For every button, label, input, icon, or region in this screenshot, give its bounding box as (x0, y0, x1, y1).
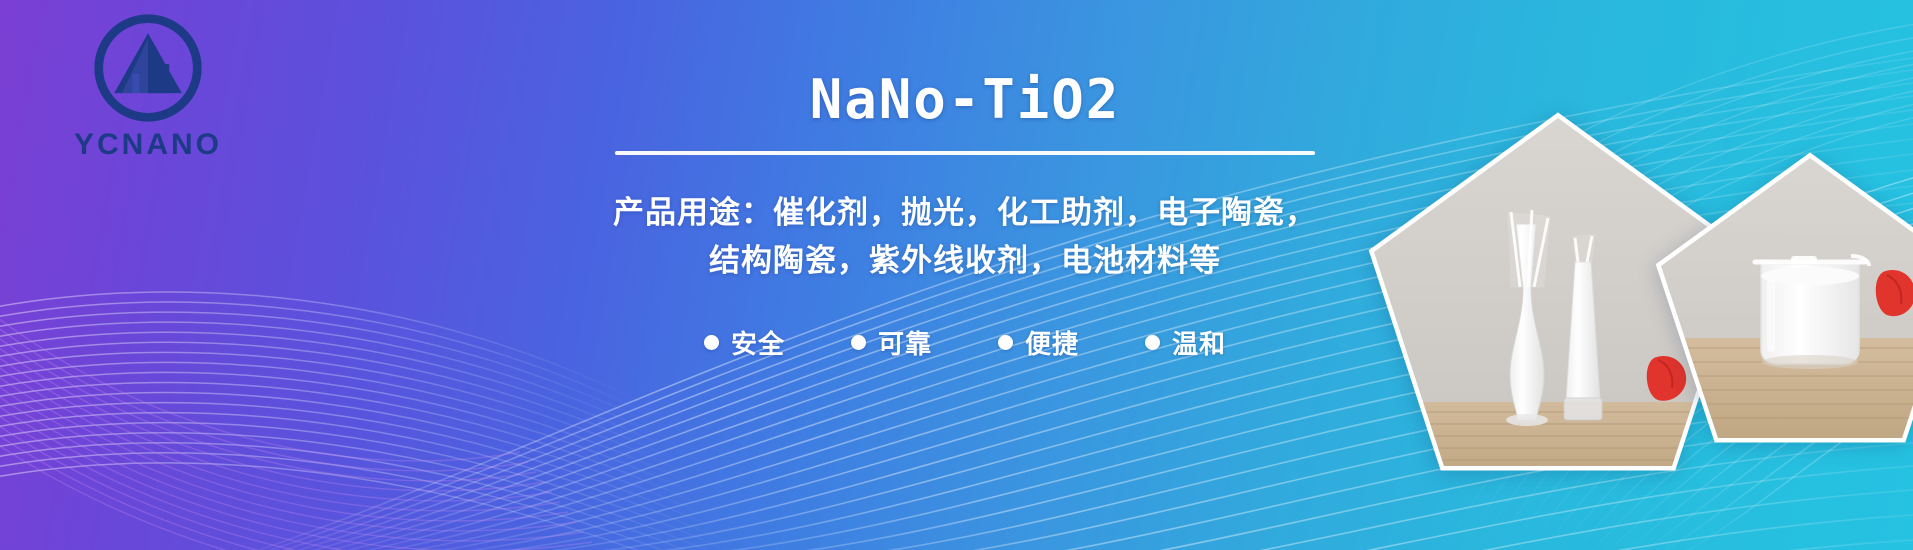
feature-label: 便捷 (1025, 324, 1079, 361)
hero-text-column: NaNo-TiO2 产品用途：催化剂，抛光，化工助剂，电子陶瓷， 结构陶瓷，紫外… (560, 70, 1370, 361)
bullet-dot-icon (851, 335, 866, 350)
brand-logo: YCNANO (48, 10, 248, 162)
ycnano-logo-icon (90, 10, 206, 126)
feature-label: 温和 (1172, 324, 1226, 361)
bullet-dot-icon (998, 335, 1013, 350)
usage-line-1: 产品用途：催化剂，抛光，化工助剂，电子陶瓷， (560, 189, 1370, 236)
title-divider (615, 151, 1315, 155)
product-photo-beaker (1655, 152, 1913, 444)
feature-list: 安全 可靠 便捷 温和 (560, 324, 1370, 361)
usage-line-2: 结构陶瓷，紫外线收剂，电池材料等 (560, 237, 1370, 284)
feature-item-reliable: 可靠 (851, 324, 932, 361)
bullet-dot-icon (704, 335, 719, 350)
feature-item-safe: 安全 (704, 324, 785, 361)
bullet-dot-icon (1145, 335, 1160, 350)
feature-label: 安全 (731, 324, 785, 361)
page-title: NaNo-TiO2 (560, 70, 1370, 129)
product-usage-text: 产品用途：催化剂，抛光，化工助剂，电子陶瓷， 结构陶瓷，紫外线收剂，电池材料等 (560, 189, 1370, 283)
brand-name: YCNANO (48, 128, 248, 162)
feature-item-convenient: 便捷 (998, 324, 1079, 361)
feature-item-mild: 温和 (1145, 324, 1226, 361)
feature-label: 可靠 (878, 324, 932, 361)
product-banner: YCNANO NaNo-TiO2 产品用途：催化剂，抛光，化工助剂，电子陶瓷， … (0, 0, 1913, 550)
